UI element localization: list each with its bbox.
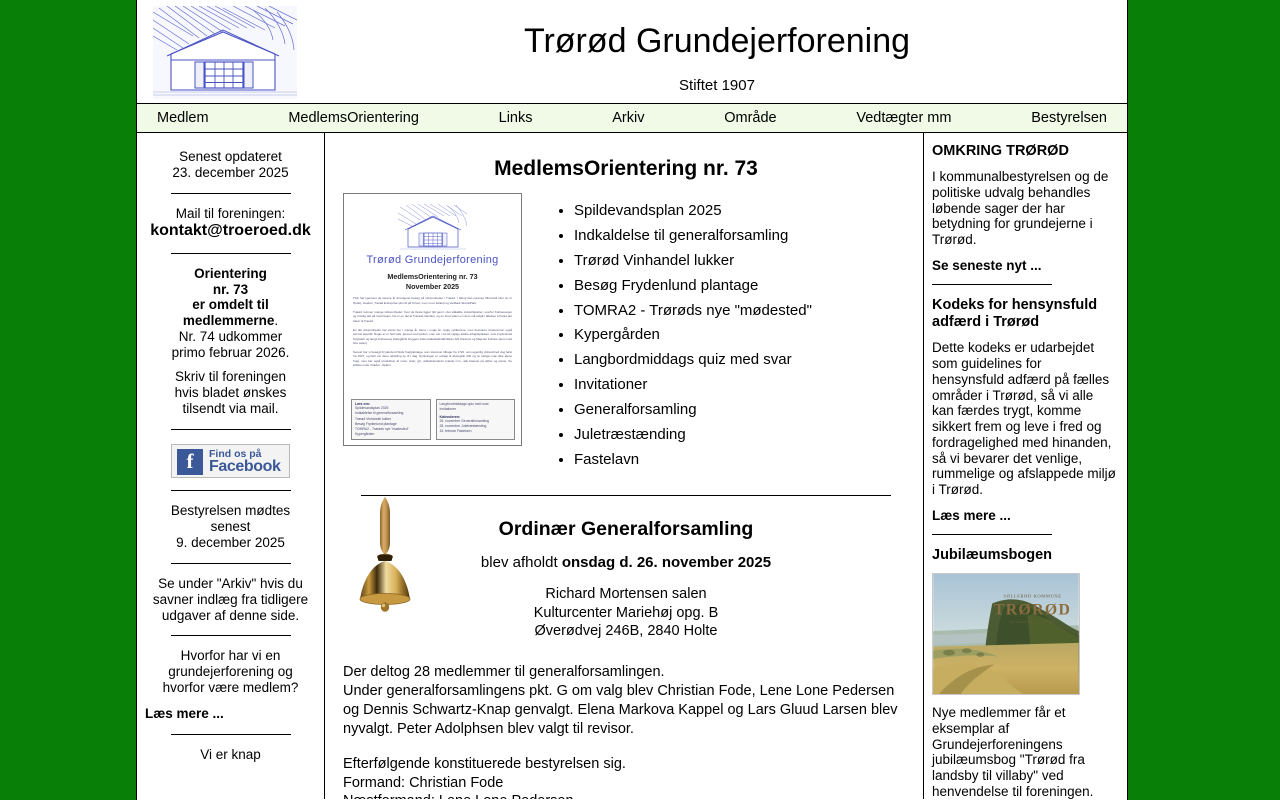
thumbnail-box-left-item: Kypergården <box>355 432 427 437</box>
right-sidebar: OMKRING TRØRØD I kommunalbestyrelsen og … <box>923 133 1127 799</box>
list-item: Indkaldelse til generalforsamling <box>574 224 812 249</box>
jubilee-book-cover[interactable]: SØLLERØD KOMMUNE TRØRØD fra landsby til … <box>932 573 1080 695</box>
nav-item-medlem[interactable]: Medlem <box>153 108 213 128</box>
board-line-1: Bestyrelsen mødtes <box>145 503 316 519</box>
thumbnail-box-right: Langbordmiddags quiz med svar Invitation… <box>436 399 516 440</box>
facebook-badge-bottom-text: Facebook <box>209 458 281 477</box>
list-item: Langbordmiddags quiz med svar <box>574 348 812 373</box>
nav-item-bestyrelsen[interactable]: Bestyrelsen <box>1027 108 1111 128</box>
board-line-2: senest <box>145 519 316 535</box>
mail-label: Mail til foreningen: <box>145 206 316 222</box>
thumbnail-issue-line-2: November 2025 <box>350 282 515 292</box>
gf-venue-line-3: Øverødvej 246B, 2840 Holte <box>343 622 909 641</box>
orientering-line-2: nr. 73 <box>145 282 316 298</box>
gf-held-date: onsdag d. 26. november 2025 <box>562 554 771 571</box>
right-section-1-heading: OMKRING TRØRØD <box>932 143 1117 160</box>
right-section-2-text: Dette kodeks er udarbejdet som guideline… <box>932 340 1117 498</box>
write-line-2: hvis bladet ønskes <box>145 385 316 401</box>
gf-heading: Ordinær Generalforsamling <box>343 518 909 541</box>
divider <box>171 429 291 430</box>
nav-item-arkiv[interactable]: Arkiv <box>608 108 648 128</box>
facebook-f-icon: f <box>177 449 203 475</box>
facebook-badge-button[interactable]: f Find os på Facebook <box>171 444 290 478</box>
page-title: Trørød Grundejerforening <box>307 22 1127 61</box>
list-item: Besøg Frydenlund plantage <box>574 274 812 299</box>
write-line-3: tilsendt via mail. <box>145 401 316 417</box>
divider <box>171 635 291 636</box>
newsletter-cover-thumbnail[interactable]: Trørød Grundejerforening MedlemsOrienter… <box>343 193 522 446</box>
list-item: Generalforsamling <box>574 398 812 423</box>
archive-note: Se under "Arkiv" hvis du savner indlæg f… <box>145 576 316 624</box>
main-heading: MedlemsOrientering nr. 73 <box>343 157 909 181</box>
contact-email-link[interactable]: kontakt@troeroed.dk <box>150 222 311 239</box>
list-item: TOMRA2 - Trørøds nye "mødested" <box>574 299 812 324</box>
why-line-2: grundejerforening og <box>145 664 316 680</box>
orientering-line-1: Orientering <box>145 266 316 282</box>
thumbnail-paragraph: Trørød rummer mange virksomheder, hvor d… <box>353 310 512 323</box>
body-columns: Senest opdateret 23. december 2025 Mail … <box>137 133 1127 799</box>
thumbnail-paragraph: TGF har igennem de senere år arrangeret … <box>353 296 512 305</box>
main-content: MedlemsOrientering nr. 73 <box>325 133 923 799</box>
gf-body-text: Der deltog 28 medlemmer til generalforsa… <box>343 663 909 799</box>
main-navigation: Medlem MedlemsOrientering Links Arkiv Om… <box>137 104 1127 133</box>
nav-item-links[interactable]: Links <box>495 108 537 128</box>
list-item: Trørød Vinhandel lukker <box>574 249 812 274</box>
gf-venue: Richard Mortensen salen Kulturcenter Mar… <box>343 585 909 642</box>
newsletter-row: Trørød Grundejerforening MedlemsOrienter… <box>343 193 909 473</box>
nav-item-medlemsorientering[interactable]: MedlemsOrientering <box>284 108 423 128</box>
header-titles: Trørød Grundejerforening Stiftet 1907 <box>307 0 1127 94</box>
page-container: Trørød Grundejerforening Stiftet 1907 Me… <box>136 0 1128 800</box>
gf-paragraph-2: Efterfølgende konstituerede bestyrelsen … <box>343 755 909 799</box>
why-member-block: Hvorfor har vi en grundejerforening og h… <box>145 648 316 696</box>
why-line-1: Hvorfor har vi en <box>145 648 316 664</box>
orientering-line-3: er omdelt til <box>145 297 316 313</box>
read-more-kodeks-link[interactable]: Læs mere ... <box>932 508 1117 524</box>
gf-venue-line-1: Richard Mortensen salen <box>343 585 909 604</box>
read-more-link[interactable]: Læs mere ... <box>145 706 316 722</box>
divider <box>171 253 291 254</box>
thumbnail-house-logo <box>398 204 468 252</box>
list-item: Kypergården <box>574 323 812 348</box>
section-divider <box>361 495 891 496</box>
divider <box>171 734 291 735</box>
gf-held-line: blev afholdt onsdag d. 26. november 2025 <box>343 554 909 571</box>
write-to-association-block: Skriv til foreningen hvis bladet ønskes … <box>145 369 316 417</box>
orientering-block: Orientering nr. 73 er omdelt til medlemm… <box>145 266 316 362</box>
divider <box>932 284 1052 285</box>
hand-bell-image <box>353 495 417 617</box>
gf-paragraph-1: Der deltog 28 medlemmer til generalforsa… <box>343 663 909 738</box>
orientering-line-4: medlemmerne <box>183 313 275 328</box>
gf-p2-line-2: Formand: Christian Fode <box>343 775 503 791</box>
site-header: Trørød Grundejerforening Stiftet 1907 <box>137 0 1127 104</box>
write-line-1: Skriv til foreningen <box>145 369 316 385</box>
right-section-1-text: I kommunalbestyrelsen og de politiske ud… <box>932 169 1117 248</box>
thumbnail-box-left: Læs om: Spildevandsplan 2025 Indkaldelse… <box>351 399 431 440</box>
left-sidebar: Senest opdateret 23. december 2025 Mail … <box>137 133 325 799</box>
list-item: Invitationer <box>574 373 812 398</box>
gf-held-prefix: blev afholdt <box>481 554 562 571</box>
nav-item-vedtaegter[interactable]: Vedtægter mm <box>852 108 955 128</box>
right-section-3-heading: Jubilæumsbogen <box>932 547 1117 564</box>
thumbnail-info-boxes: Læs om: Spildevandsplan 2025 Indkaldelse… <box>351 399 515 440</box>
list-item: Spildevandsplan 2025 <box>574 199 812 224</box>
right-section-3-text: Nye medlemmer får et eksemplar af Grunde… <box>932 705 1117 799</box>
thumbnail-box-right-item: 15. februar Fastelavn <box>440 429 512 434</box>
orientering-period: . <box>274 313 278 328</box>
thumbnail-paragraph: Senest har vi besøgt Frydenlund Stids fr… <box>353 350 512 367</box>
right-section-2-heading: Kodeks for hensynsfuld adfærd i Trørød <box>932 297 1117 331</box>
house-drawing-logo <box>153 6 297 99</box>
why-line-3: hvorfor være medlem? <box>145 680 316 696</box>
newsletter-contents-list: Spildevandsplan 2025 Indkaldelse til gen… <box>522 199 812 473</box>
svg-text:TRØRØD: TRØRØD <box>994 601 1071 618</box>
last-updated-label: Senest opdateret <box>145 149 316 165</box>
last-updated-date: 23. december 2025 <box>145 165 316 181</box>
svg-text:SØLLERØD KOMMUNE: SØLLERØD KOMMUNE <box>1004 594 1062 599</box>
thumbnail-issue-line-1: MedlemsOrientering nr. 73 <box>350 272 515 282</box>
thumbnail-issue: MedlemsOrientering nr. 73 November 2025 <box>350 272 515 291</box>
next-issue-line-1: Nr. 74 udkommer <box>145 329 316 345</box>
svg-text:fra landsby til villaby: fra landsby til villaby <box>1010 619 1057 624</box>
board-meeting-block: Bestyrelsen mødtes senest 9. december 20… <box>145 503 316 551</box>
thumbnail-paragraph: En del virksomheder har været her i mang… <box>353 328 512 345</box>
divider <box>171 490 291 491</box>
nav-item-omraade[interactable]: Område <box>720 108 780 128</box>
divider <box>171 193 291 194</box>
gf-venue-line-2: Kulturcenter Mariehøj opg. B <box>343 604 909 623</box>
next-issue-line-2: primo februar 2026. <box>145 345 316 361</box>
see-latest-news-link[interactable]: Se seneste nyt ... <box>932 258 1117 274</box>
gf-p2-line-1: Efterfølgende konstituerede bestyrelsen … <box>343 756 626 772</box>
gf-p2-line-3: Næstformand: Lene Lone Pedersen <box>343 793 574 799</box>
list-item: Fastelavn <box>574 448 812 473</box>
divider <box>932 534 1052 535</box>
board-line-3: 9. december 2025 <box>145 535 316 551</box>
divider <box>171 563 291 564</box>
site-subtitle: Stiftet 1907 <box>307 77 1127 94</box>
cutoff-text: Vi er knap <box>145 747 316 763</box>
list-item: Juletræstænding <box>574 423 812 448</box>
thumbnail-brand: Trørød Grundejerforening <box>350 254 515 266</box>
thumbnail-box-right-top-item: Invitationer <box>440 407 512 412</box>
